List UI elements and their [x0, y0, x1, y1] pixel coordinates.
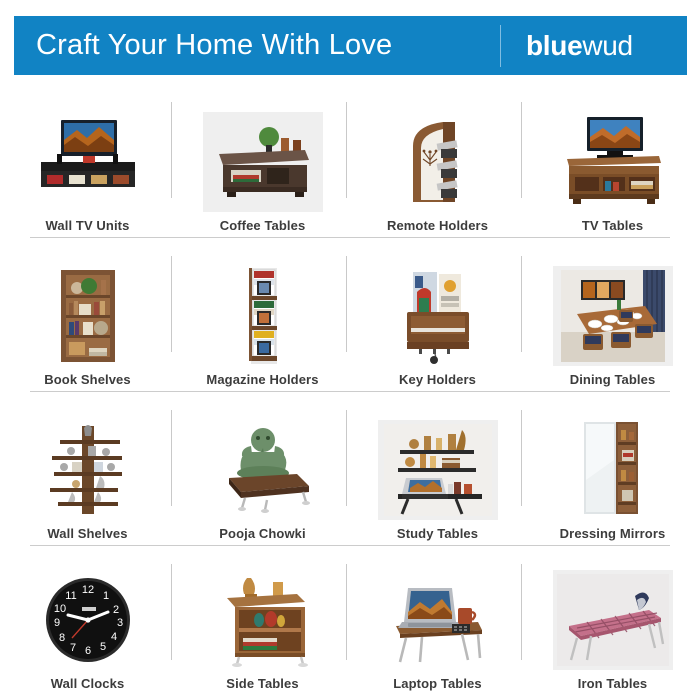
- category-cell-remote-holders[interactable]: Remote Holders: [350, 84, 525, 238]
- category-cell-book-shelves[interactable]: Book Shelves: [0, 238, 175, 392]
- tv-table-icon: [553, 112, 673, 212]
- category-cell-wall-tv-units[interactable]: Wall TV Units: [0, 84, 175, 238]
- category-cell-iron-tables[interactable]: Iron Tables: [525, 546, 700, 696]
- svg-text:8: 8: [58, 632, 64, 644]
- wall-clock-icon: 12 1 2 3 4 5 6 7 8 9 10 11: [28, 570, 148, 670]
- book-shelf-icon: [28, 266, 148, 366]
- category-cell-dressing-mirrors[interactable]: Dressing Mirrors: [525, 392, 700, 546]
- category-cell-key-holders[interactable]: Key Holders: [350, 238, 525, 392]
- svg-text:4: 4: [110, 631, 116, 643]
- svg-text:1: 1: [102, 590, 108, 602]
- page-title: Craft Your Home With Love: [36, 29, 392, 62]
- category-cell-side-tables[interactable]: Side Tables: [175, 546, 350, 696]
- svg-text:9: 9: [53, 617, 59, 629]
- svg-text:2: 2: [112, 604, 118, 616]
- category-label: Key Holders: [399, 372, 476, 388]
- category-cell-study-tables[interactable]: Study Tables: [350, 392, 525, 546]
- wall-shelf-icon: [28, 420, 148, 520]
- svg-text:3: 3: [116, 617, 122, 629]
- category-cell-wall-shelves[interactable]: Wall Shelves: [0, 392, 175, 546]
- key-holder-icon: [378, 266, 498, 366]
- bluewud-logo: bluewud: [526, 30, 633, 62]
- svg-text:6: 6: [84, 645, 90, 657]
- category-label: Magazine Holders: [206, 372, 318, 388]
- category-label: Study Tables: [397, 526, 478, 542]
- product-category-poster: Craft Your Home With Love bluewud: [0, 0, 700, 700]
- category-label: Wall Shelves: [47, 526, 127, 542]
- logo-text-blue: blue: [526, 30, 582, 61]
- category-label: Remote Holders: [387, 218, 488, 234]
- category-label: Laptop Tables: [393, 676, 481, 692]
- category-label: Book Shelves: [44, 372, 130, 388]
- category-label: Side Tables: [226, 676, 298, 692]
- svg-text:11: 11: [65, 590, 76, 602]
- category-cell-magazine-holders[interactable]: Magazine Holders: [175, 238, 350, 392]
- category-label: Iron Tables: [578, 676, 647, 692]
- study-table-icon: [378, 420, 498, 520]
- logo-text-wud: wud: [582, 30, 632, 61]
- category-label: TV Tables: [582, 218, 643, 234]
- svg-text:7: 7: [69, 642, 75, 654]
- category-cell-dining-tables[interactable]: Dining Tables: [525, 238, 700, 392]
- svg-text:12: 12: [81, 584, 93, 596]
- svg-text:5: 5: [99, 641, 105, 653]
- category-label: Dressing Mirrors: [560, 526, 666, 542]
- category-row: 12 1 2 3 4 5 6 7 8 9 10 11: [0, 546, 700, 696]
- header-banner: Craft Your Home With Love bluewud: [14, 16, 687, 75]
- category-row: Book Shelves: [0, 238, 700, 392]
- iron-table-icon: [553, 570, 673, 670]
- category-row: Wall TV Units: [0, 84, 700, 238]
- laptop-table-icon: [378, 570, 498, 670]
- dining-table-icon: [553, 266, 673, 366]
- side-table-icon: [203, 570, 323, 670]
- category-row: Wall Shelves: [0, 392, 700, 546]
- category-label: Wall TV Units: [46, 218, 130, 234]
- header-divider: [500, 25, 501, 67]
- category-cell-wall-clocks[interactable]: 12 1 2 3 4 5 6 7 8 9 10 11: [0, 546, 175, 696]
- pooja-chowki-icon: [203, 420, 323, 520]
- category-label: Wall Clocks: [51, 676, 125, 692]
- remote-holder-icon: [378, 112, 498, 212]
- coffee-table-icon: [203, 112, 323, 212]
- category-grid: Wall TV Units: [0, 84, 700, 696]
- category-cell-pooja-chowki[interactable]: Pooja Chowki: [175, 392, 350, 546]
- svg-text:10: 10: [53, 603, 65, 615]
- category-cell-coffee-tables[interactable]: Coffee Tables: [175, 84, 350, 238]
- wall-tv-unit-icon: [28, 112, 148, 212]
- category-label: Pooja Chowki: [219, 526, 305, 542]
- category-cell-tv-tables[interactable]: TV Tables: [525, 84, 700, 238]
- category-cell-laptop-tables[interactable]: Laptop Tables: [350, 546, 525, 696]
- category-label: Dining Tables: [570, 372, 656, 388]
- category-label: Coffee Tables: [220, 218, 306, 234]
- dressing-mirror-icon: [553, 420, 673, 520]
- magazine-holder-icon: [203, 266, 323, 366]
